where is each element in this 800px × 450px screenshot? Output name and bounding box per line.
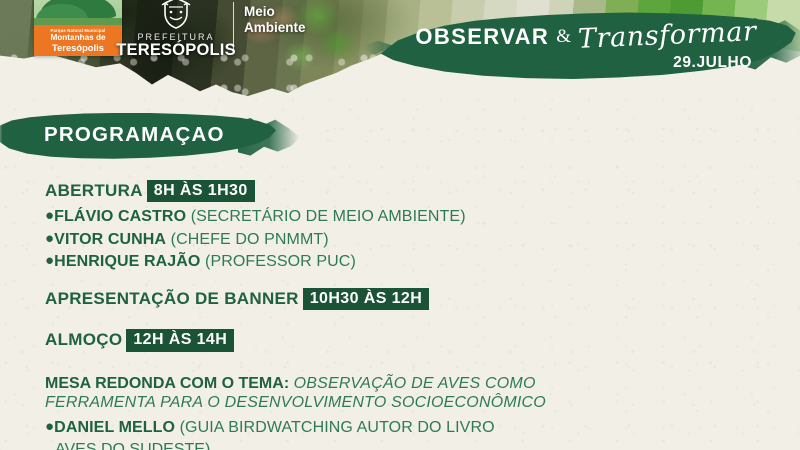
schedule-item-label: ALMOÇO [45, 330, 122, 349]
schedule-item-label: ABERTURA [45, 181, 143, 200]
park-logo-line3: Teresópolis [52, 43, 104, 52]
schedule-speaker-henrique-rajao: ●HENRIQUE RAJÃO (PROFESSOR PUC) [45, 253, 765, 270]
speaker-name: DANIEL MELLO [54, 419, 175, 436]
title-word-transformar: Transformar [577, 16, 757, 55]
schedule-list: ABERTURA8H ÀS 1H30 ●FLÁVIO CASTRO (SECRE… [45, 180, 765, 450]
bullet-icon: ● [45, 418, 54, 435]
mesa-redonda-theme-line1: OBSERVAÇÃO DE AVES COMO [294, 375, 536, 392]
event-poster: Parque Natural Municipal Montanhas de Te… [0, 0, 800, 450]
title-word-observar: OBSERVAR [415, 24, 549, 50]
title-banner: OBSERVAR & Transformar 29.JULHO [372, 6, 800, 88]
speaker-name: VITOR CUNHA [54, 231, 166, 248]
schedule-item-time-chip: 12H ÀS 14H [126, 329, 234, 351]
speaker-role: (SECRETÁRIO DE MEIO AMBIENTE) [191, 208, 466, 225]
schedule-item-label: APRESENTAÇÃO DE BANNER [45, 289, 299, 308]
bullet-icon: ● [45, 230, 54, 247]
speaker-role: (CHEFE DO PNMMT) [171, 231, 329, 248]
schedule-speaker-vitor-cunha: ●VITOR CUNHA (CHEFE DO PNMMT) [45, 231, 765, 248]
mesa-redonda-label: MESA REDONDA COM O TEMA: [45, 375, 289, 392]
speaker-role-continued: AVES DO SUDESTE) [55, 441, 210, 450]
speaker-role: (GUIA BIRDWATCHING AUTOR DO LIVRO [180, 419, 495, 436]
title-ampersand: & [556, 26, 571, 48]
schedule-item-abertura: ABERTURA8H ÀS 1H30 [45, 180, 765, 202]
programacao-label: PROGRAMAÇAO [44, 123, 225, 147]
schedule-item-time-chip: 8H ÀS 1H30 [147, 180, 255, 202]
mesa-redonda-theme-line2: FERRAMENTA PARA O DESENVOLVIMENTO SOCIOE… [45, 394, 546, 411]
spacer [45, 275, 765, 288]
department-label-line2: Ambiente [244, 20, 306, 36]
programacao-banner: PROGRAMAÇAO [0, 112, 300, 164]
schedule-item-almoco: ALMOÇO12H ÀS 14H [45, 329, 765, 351]
schedule-item-time-chip: 10H30 ÀS 12H [303, 288, 429, 310]
prefeitura-logo: PREFEITURA TERESÓPOLIS [124, 0, 228, 56]
department-label: Meio Ambiente [244, 4, 306, 37]
schedule-speaker-daniel-mello: ●DANIEL MELLO (GUIA BIRDWATCHING AUTOR D… [45, 419, 765, 436]
prefeitura-title: TERESÓPOLIS [116, 41, 236, 60]
speaker-role: (PROFESSOR PUC) [205, 253, 356, 270]
schedule-speaker-flavio-castro: ●FLÁVIO CASTRO (SECRETÁRIO DE MEIO AMBIE… [45, 208, 765, 225]
schedule-item-apresentacao-banner: APRESENTAÇÃO DE BANNER10H30 ÀS 12H [45, 288, 765, 310]
spacer [45, 316, 765, 329]
department-label-line1: Meio [244, 4, 306, 20]
bullet-icon: ● [45, 252, 54, 269]
spacer [45, 358, 765, 374]
prefeitura-subtitle: PREFEITURA [137, 32, 214, 42]
speaker-name: HENRIQUE RAJÃO [54, 253, 200, 270]
bullet-icon: ● [45, 207, 54, 224]
event-date: 29.JULHO [673, 54, 752, 72]
header-divider [233, 2, 234, 54]
coat-of-arms-icon [158, 0, 194, 30]
park-logo: Parque Natural Municipal Montanhas de Te… [34, 0, 122, 56]
speaker-name: FLÁVIO CASTRO [54, 208, 186, 225]
schedule-item-mesa-redonda: MESA REDONDA COM O TEMA: OBSERVAÇÃO DE A… [45, 374, 765, 413]
park-logo-nameplate: Parque Natural Municipal Montanhas de Te… [34, 25, 122, 56]
schedule-speaker-daniel-mello-role-continued: AVES DO SUDESTE) [45, 441, 765, 450]
